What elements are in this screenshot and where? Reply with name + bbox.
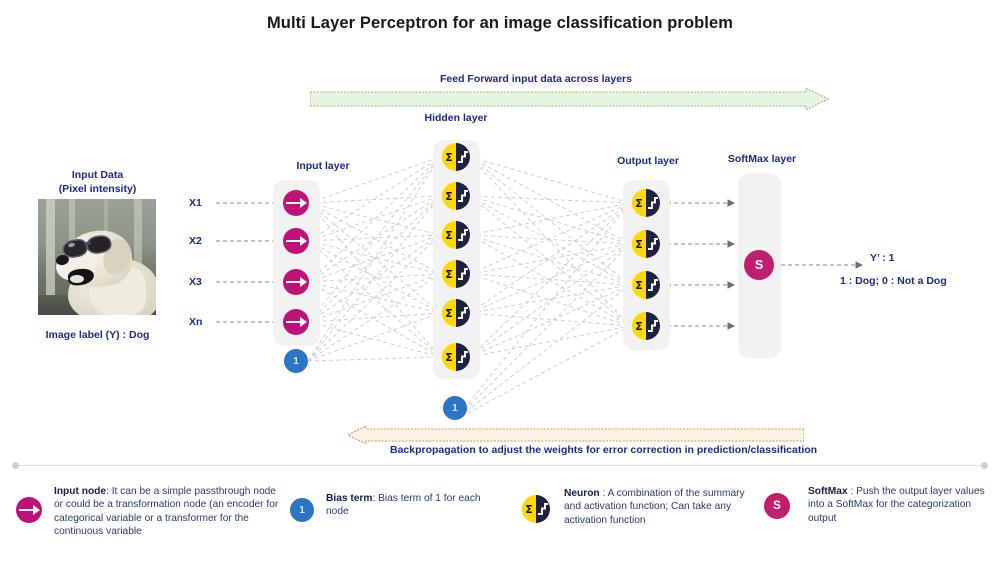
sigma-icon: Σ xyxy=(632,312,646,340)
neuron-icon: Σ xyxy=(522,495,550,523)
output-layer-label: Output layer xyxy=(588,155,708,167)
legend-softmax-title: SoftMax xyxy=(808,486,850,497)
sigma-icon: Σ xyxy=(442,299,456,327)
feed-forward-arrow xyxy=(310,88,830,110)
hidden-layer-label: Hidden layer xyxy=(386,112,526,124)
legend-input-node-title: Input node xyxy=(54,486,106,497)
sigma-icon: Σ xyxy=(442,343,456,371)
legend-bias-text: Bias term: Bias term of 1 for each node xyxy=(326,492,506,519)
output-neuron-3[interactable]: Σ xyxy=(632,271,660,299)
sigma-icon: Σ xyxy=(442,182,456,210)
sigma-icon: Σ xyxy=(632,230,646,258)
step-function-icon xyxy=(456,143,470,171)
feature-label-xn: Xn xyxy=(189,316,202,328)
feature-label-x1: X1 xyxy=(189,197,202,209)
softmax-node[interactable]: S xyxy=(744,250,774,280)
legend-neuron-text: Neuron : A combination of the summary an… xyxy=(564,487,754,527)
output-key: 1 : Dog; 0 : Not a Dog xyxy=(840,275,947,287)
input-node-4[interactable] xyxy=(283,309,309,335)
input-data-title: Input Data (Pixel intensity) xyxy=(20,168,175,196)
image-label: Image label (Y) : Dog xyxy=(20,329,175,341)
step-function-icon xyxy=(456,343,470,371)
hidden-neuron-3[interactable]: Σ xyxy=(442,221,470,249)
backpropagation-label: Backpropagation to adjust the weights fo… xyxy=(390,444,817,456)
legend-neuron-title: Neuron xyxy=(564,488,603,499)
step-function-icon xyxy=(646,230,660,258)
step-function-icon xyxy=(456,221,470,249)
step-function-icon xyxy=(456,260,470,288)
legend-bias-title: Bias term xyxy=(326,493,372,504)
feature-label-x3: X3 xyxy=(189,276,202,288)
step-function-icon xyxy=(456,182,470,210)
bias-node-icon: 1 xyxy=(290,498,314,522)
bias-node-input-layer[interactable]: 1 xyxy=(284,349,308,373)
step-function-icon xyxy=(536,495,550,523)
output-neuron-1[interactable]: Σ xyxy=(632,189,660,217)
sigma-icon: Σ xyxy=(522,495,536,523)
input-node-1[interactable] xyxy=(283,190,309,216)
output-prediction: Y’ : 1 xyxy=(870,252,895,264)
hidden-neuron-2[interactable]: Σ xyxy=(442,182,470,210)
input-node-3[interactable] xyxy=(283,269,309,295)
input-node-2[interactable] xyxy=(283,228,309,254)
input-data-title-line1: Input Data xyxy=(72,169,123,181)
hidden-neuron-6[interactable]: Σ xyxy=(442,343,470,371)
input-data-title-line2: (Pixel intensity) xyxy=(59,183,137,195)
legend-input-node-text: Input node: It can be a simple passthrou… xyxy=(54,485,280,539)
backpropagation-arrow xyxy=(348,426,804,444)
output-neuron-2[interactable]: Σ xyxy=(632,230,660,258)
bias-node-hidden-layer[interactable]: 1 xyxy=(443,396,467,420)
feed-forward-label: Feed Forward input data across layers xyxy=(440,73,632,85)
sigma-icon: Σ xyxy=(442,143,456,171)
input-layer-label: Input layer xyxy=(248,160,398,172)
step-function-icon xyxy=(456,299,470,327)
softmax-layer-label: SoftMax layer xyxy=(702,153,822,165)
sigma-icon: Σ xyxy=(442,260,456,288)
sigma-icon: Σ xyxy=(632,189,646,217)
hidden-neuron-5[interactable]: Σ xyxy=(442,299,470,327)
sigma-icon: Σ xyxy=(632,271,646,299)
feature-label-x2: X2 xyxy=(189,235,202,247)
input-image-dog-photo xyxy=(38,199,156,315)
section-divider xyxy=(12,464,988,467)
step-function-icon xyxy=(646,312,660,340)
hidden-neuron-1[interactable]: Σ xyxy=(442,143,470,171)
sigma-icon: Σ xyxy=(442,221,456,249)
output-neuron-4[interactable]: Σ xyxy=(632,312,660,340)
hidden-neuron-4[interactable]: Σ xyxy=(442,260,470,288)
input-node-icon xyxy=(16,497,42,523)
legend-softmax-text: SoftMax : Push the output layer values i… xyxy=(808,485,988,525)
divider-dot-right xyxy=(981,462,988,469)
step-function-icon xyxy=(646,271,660,299)
softmax-node-icon: S xyxy=(764,493,790,519)
diagram-canvas: Multi Layer Perceptron for an image clas… xyxy=(0,0,1000,563)
step-function-icon xyxy=(646,189,660,217)
